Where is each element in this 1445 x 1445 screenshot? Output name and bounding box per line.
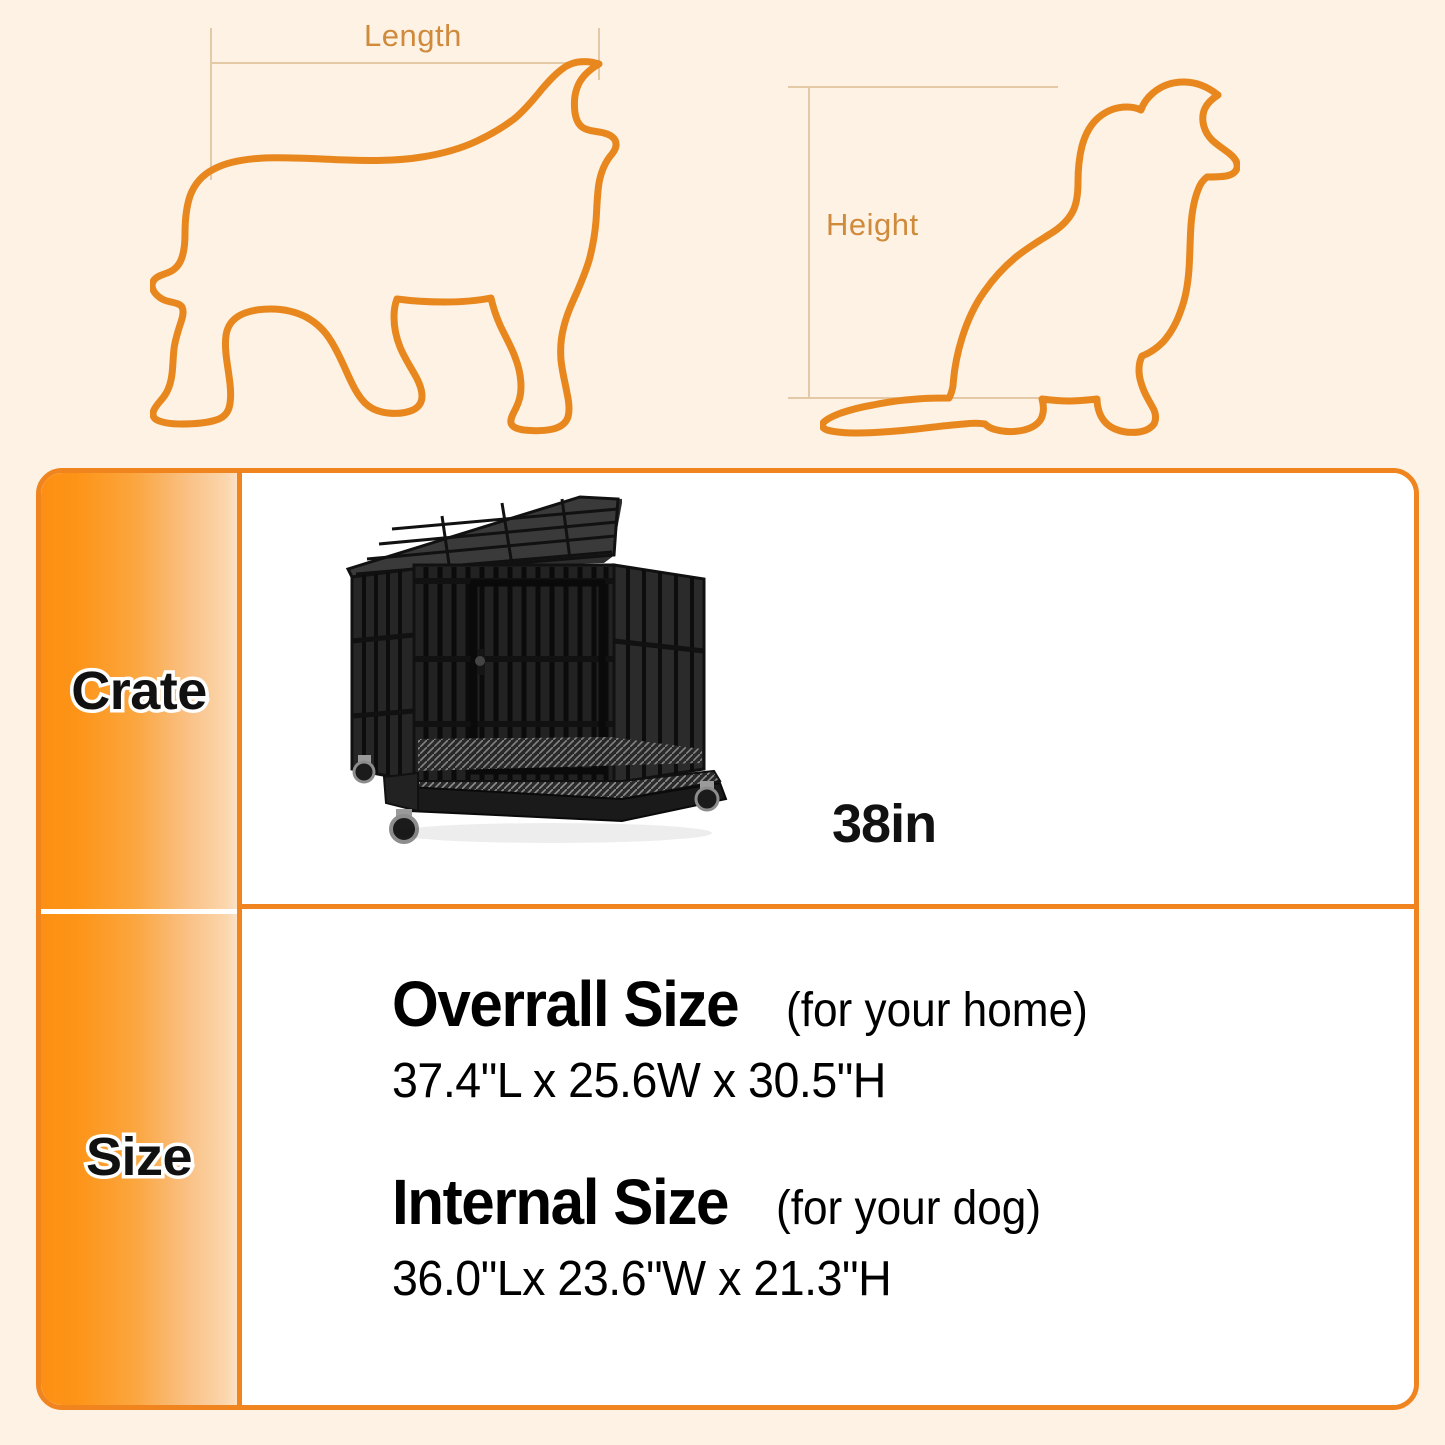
- spec-block-internal: Internal Size (for your dog) 36.0"Lx 23.…: [392, 1165, 1394, 1307]
- spec-title-internal: Internal Size: [392, 1165, 728, 1239]
- card-side-column: Crate Size: [41, 473, 237, 1405]
- spec-dims-overall: 37.4"L x 25.6W x 30.5"H: [392, 1053, 1344, 1109]
- crate-row: 38in: [242, 473, 1414, 909]
- spec-card: Crate Size: [36, 468, 1419, 1410]
- height-guide-line: [808, 86, 810, 398]
- crate-image: [322, 481, 762, 871]
- spec-note-internal: (for your dog): [776, 1181, 1041, 1236]
- size-row: Overrall Size (for your home) 37.4"L x 2…: [242, 909, 1414, 1405]
- dog-size-guide: Length Height: [0, 0, 1445, 455]
- side-label-crate: Crate: [71, 660, 207, 722]
- spec-head-overall: Overrall Size (for your home): [392, 967, 1394, 1041]
- spec-dims-internal: 36.0"Lx 23.6"W x 21.3"H: [392, 1251, 1344, 1307]
- spec-note-overall: (for your home): [786, 983, 1088, 1038]
- standing-dog-silhouette: [150, 48, 620, 438]
- side-row-divider: [41, 909, 237, 914]
- infographic-root: Length Height Crate Size: [0, 0, 1445, 1445]
- side-cell-crate: Crate: [41, 473, 237, 909]
- spec-title-overall: Overrall Size: [392, 967, 738, 1041]
- sitting-dog-silhouette: [820, 60, 1240, 440]
- spec-block-overall: Overrall Size (for your home) 37.4"L x 2…: [392, 967, 1394, 1109]
- spec-list: Overrall Size (for your home) 37.4"L x 2…: [392, 967, 1394, 1363]
- card-main-column: 38in Overrall Size (for your home) 37.4"…: [237, 473, 1414, 1405]
- side-label-size: Size: [86, 1126, 192, 1188]
- crate-size-caption: 38in: [832, 793, 936, 855]
- side-cell-size: Size: [41, 909, 237, 1405]
- spec-head-internal: Internal Size (for your dog): [392, 1165, 1394, 1239]
- dog-crate-illustration: [322, 481, 762, 871]
